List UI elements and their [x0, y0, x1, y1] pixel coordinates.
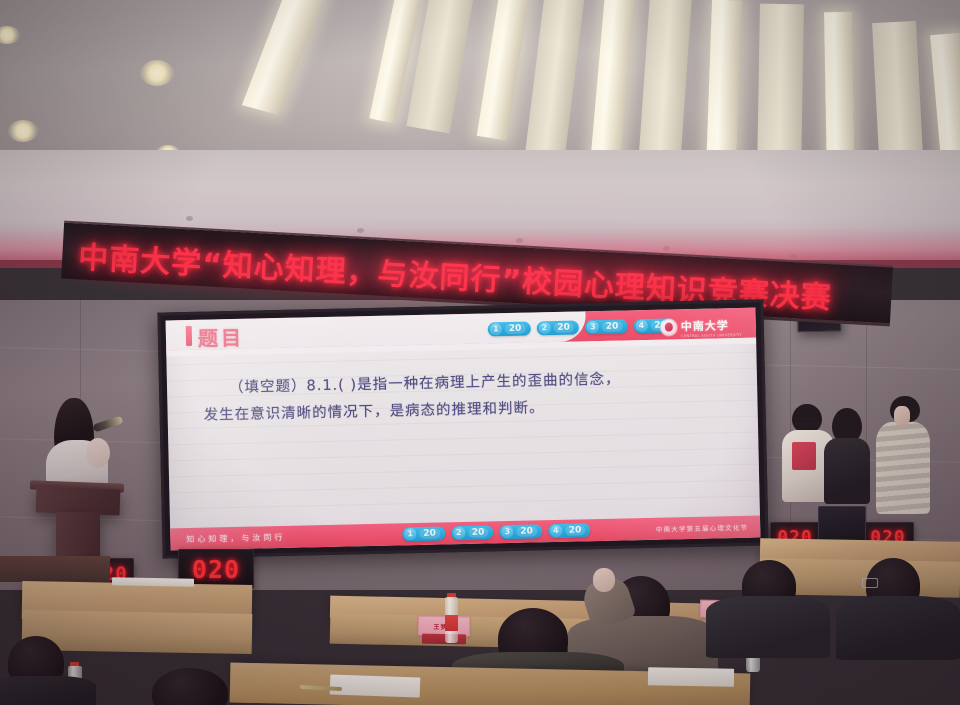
person-torso: [824, 438, 870, 504]
team-score: 20: [505, 324, 526, 334]
slide-footer-slogan: 知心知理，与汝同行: [186, 531, 285, 544]
slide-title: 题目: [198, 322, 245, 352]
team-number: 4: [550, 525, 562, 537]
ceiling-light-fin: [706, 0, 742, 158]
audience-member-head: [152, 668, 228, 705]
desk-paper: [330, 674, 421, 697]
stage-front-panel: [0, 556, 110, 582]
team-score-badge: 1 20: [488, 322, 531, 337]
logo-name-cn: 中南大学: [681, 319, 729, 333]
ceiling-light-fin: [824, 12, 855, 158]
presentation-slide: 题目 1 20 2 20 3 20 4 20: [166, 308, 761, 551]
team-score: 20: [565, 525, 586, 535]
team-number: 2: [453, 527, 465, 539]
lecture-hall-photo: 中南大学“知心知理，与汝同行”校园心理知识竞赛决赛 题目 1 20 2: [0, 0, 960, 705]
team-score-badge: 3 20: [499, 524, 542, 539]
audience-member-body: [836, 596, 960, 660]
team-score: 20: [516, 526, 537, 536]
person-torso: [876, 422, 930, 514]
ceiling-spotlight: [140, 60, 174, 86]
team-score: 20: [602, 321, 623, 331]
red-book: [422, 634, 466, 645]
question-text: （填空题）8.1.( )是指一种在病理上产生的歪曲的信念， 发生在意识清晰的情况…: [203, 364, 734, 429]
team-number: 2: [538, 322, 550, 334]
footer-score-badges: 1 20 2 20 3 20 4 20: [402, 523, 590, 541]
person-dark-jacket: [822, 408, 872, 504]
person-hand: [894, 406, 910, 426]
host-arm: [86, 438, 110, 468]
logo-text: 中南大学 CENTRAL SOUTH UNIVERSITY: [681, 314, 742, 338]
person-glasses-striped-sweater: [876, 396, 932, 514]
team-score-badge: 2 20: [536, 320, 579, 335]
desk-paper: [648, 667, 734, 686]
slide-footer-bar: 知心知理，与汝同行 1 20 2 20 3 20 4: [170, 516, 760, 551]
ceiling: [0, 0, 960, 158]
slide-title-accent: [186, 326, 192, 346]
team-score-badge: 2 20: [451, 525, 494, 540]
bottle-label: [445, 615, 458, 631]
team-score-badge: 1 20: [402, 526, 445, 541]
audience-member-body: [0, 676, 96, 705]
ceiling-light-fin: [757, 4, 804, 158]
glasses-icon: [796, 418, 818, 426]
slide-footer-org: 中南大学第五届心理文化节: [656, 522, 749, 534]
projection-screen: 题目 1 20 2 20 3 20 4 20: [157, 299, 768, 558]
team-score: 20: [419, 529, 440, 539]
control-monitor: [818, 506, 866, 541]
audience-member-hand: [593, 568, 615, 592]
team-score-badge: 4 20: [548, 523, 591, 538]
sweater-print: [792, 442, 816, 470]
podium-column: [56, 512, 100, 560]
team-number: 3: [501, 526, 513, 538]
university-logo: 中南大学 CENTRAL SOUTH UNIVERSITY: [661, 314, 742, 339]
team-number: 4: [635, 320, 647, 332]
team-score: 20: [468, 527, 489, 537]
person-hair: [832, 408, 862, 442]
team-number: 1: [490, 323, 502, 335]
team-number: 1: [404, 528, 416, 540]
audience-member-body: [706, 596, 830, 658]
team-number: 3: [587, 321, 599, 333]
team-score-badge: 3 20: [585, 319, 628, 334]
ceiling-spotlight: [8, 120, 38, 142]
sprinkler-head-icon: [186, 216, 193, 221]
glasses-icon: [862, 578, 878, 588]
scoreboard-value: 020: [192, 555, 240, 584]
desk-paper: [112, 577, 194, 586]
csu-emblem-icon: [661, 319, 677, 335]
team-score: 20: [553, 323, 574, 333]
